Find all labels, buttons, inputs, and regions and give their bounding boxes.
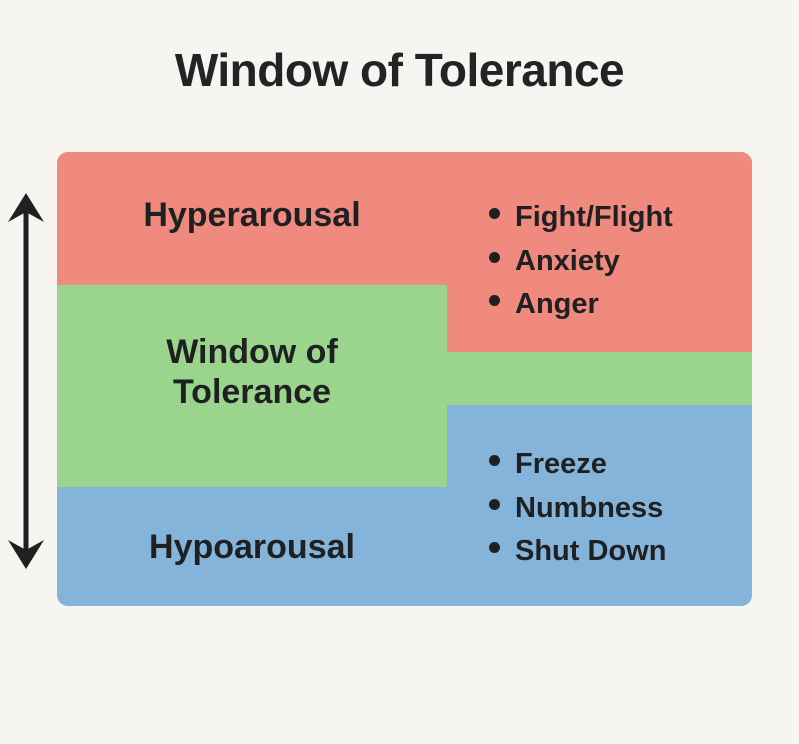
list-item-label: Fight/Flight — [515, 196, 673, 240]
page-title: Window of Tolerance — [0, 44, 799, 97]
list-item: Numbness — [489, 487, 666, 531]
hyperarousal-symptom-list: Fight/Flight Anxiety Anger — [489, 196, 673, 327]
list-item: Fight/Flight — [489, 196, 673, 240]
list-item-label: Freeze — [515, 443, 607, 487]
window-of-tolerance-diagram: Hyperarousal Window of Tolerance Hypoaro… — [57, 152, 752, 606]
bullet-dot-icon — [489, 499, 500, 510]
list-item: Anxiety — [489, 240, 673, 284]
window-of-tolerance-label-line2: Tolerance — [57, 372, 447, 412]
list-item-label: Anger — [515, 283, 599, 327]
hyperarousal-label: Hyperarousal — [57, 195, 447, 235]
window-of-tolerance-label-line1: Window of — [57, 332, 447, 372]
list-item-label: Numbness — [515, 487, 663, 531]
list-item: Shut Down — [489, 530, 666, 574]
window-of-tolerance-label: Window of Tolerance — [57, 332, 447, 412]
hypoarousal-symptom-list: Freeze Numbness Shut Down — [489, 443, 666, 574]
bullet-dot-icon — [489, 208, 500, 219]
list-item-label: Anxiety — [515, 240, 620, 284]
hypoarousal-label: Hypoarousal — [57, 527, 447, 567]
double-headed-vertical-arrow-icon — [5, 190, 47, 572]
bullet-dot-icon — [489, 295, 500, 306]
list-item: Freeze — [489, 443, 666, 487]
bullet-dot-icon — [489, 542, 500, 553]
bullet-dot-icon — [489, 455, 500, 466]
bullet-dot-icon — [489, 252, 500, 263]
list-item: Anger — [489, 283, 673, 327]
list-item-label: Shut Down — [515, 530, 666, 574]
